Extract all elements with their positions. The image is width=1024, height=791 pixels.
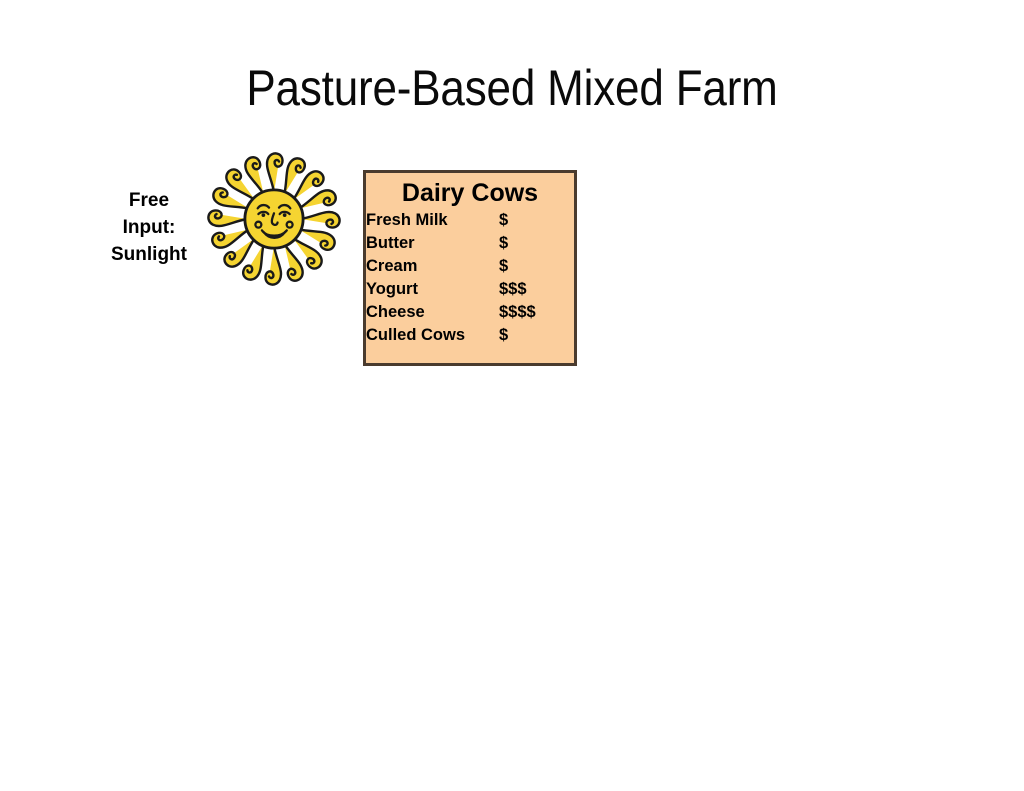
product-price: $$$$ <box>499 304 536 327</box>
product-name: Yogurt <box>366 281 499 304</box>
table-row: Butter $ <box>366 235 536 258</box>
free-input-line-3: Sunlight <box>85 242 213 269</box>
product-name: Fresh Milk <box>366 212 499 235</box>
table-row: Cheese $$$$ <box>366 304 536 327</box>
product-price: $ <box>499 327 536 350</box>
pupil-right <box>283 213 287 217</box>
product-price: $ <box>499 258 536 281</box>
table-row: Fresh Milk $ <box>366 212 536 235</box>
product-name: Butter <box>366 235 499 258</box>
page-title: Pasture-Based Mixed Farm <box>61 60 962 116</box>
table-row: Cream $ <box>366 258 536 281</box>
table-row: Yogurt $$$ <box>366 281 536 304</box>
product-name: Culled Cows <box>366 327 499 350</box>
sun-disc <box>245 190 303 248</box>
free-input-line-1: Free <box>85 188 213 215</box>
product-price: $ <box>499 235 536 258</box>
free-input-line-2: Input: <box>85 215 213 242</box>
product-price: $$$ <box>499 281 536 304</box>
table-row: Culled Cows $ <box>366 327 536 350</box>
pupil-left <box>262 213 266 217</box>
product-price: $ <box>499 212 536 235</box>
dairy-cows-product-table: Fresh Milk $ Butter $ Cream $ Yogurt $$$… <box>366 212 536 350</box>
slide-canvas: Pasture-Based Mixed Farm Free Input: Sun… <box>0 0 1024 791</box>
dairy-cows-heading: Dairy Cows <box>366 179 574 209</box>
product-name: Cream <box>366 258 499 281</box>
free-input-caption: Free Input: Sunlight <box>85 188 213 269</box>
sun-with-face-icon <box>201 148 347 290</box>
product-name: Cheese <box>366 304 499 327</box>
dairy-cows-box[interactable]: Dairy Cows Fresh Milk $ Butter $ Cream $… <box>363 170 577 366</box>
